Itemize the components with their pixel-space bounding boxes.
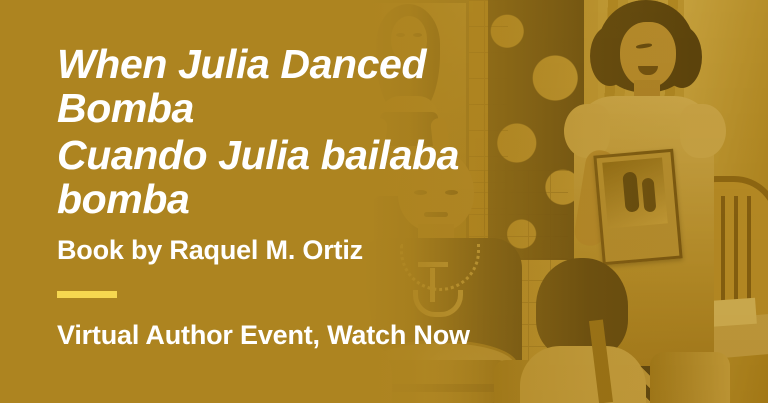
page-title-spanish: Cuando Julia bailaba bomba xyxy=(57,133,459,221)
banner-text-block: When Julia Danced Bomba Cuando Julia bai… xyxy=(57,0,757,403)
watch-now-cta[interactable]: Virtual Author Event, Watch Now xyxy=(57,319,470,351)
accent-divider xyxy=(57,291,117,298)
book-byline: Book by Raquel M. Ortiz xyxy=(57,234,363,266)
event-promo-banner: When Julia Danced Bomba Cuando Julia bai… xyxy=(0,0,768,403)
page-title-english: When Julia Danced Bomba xyxy=(57,42,426,130)
